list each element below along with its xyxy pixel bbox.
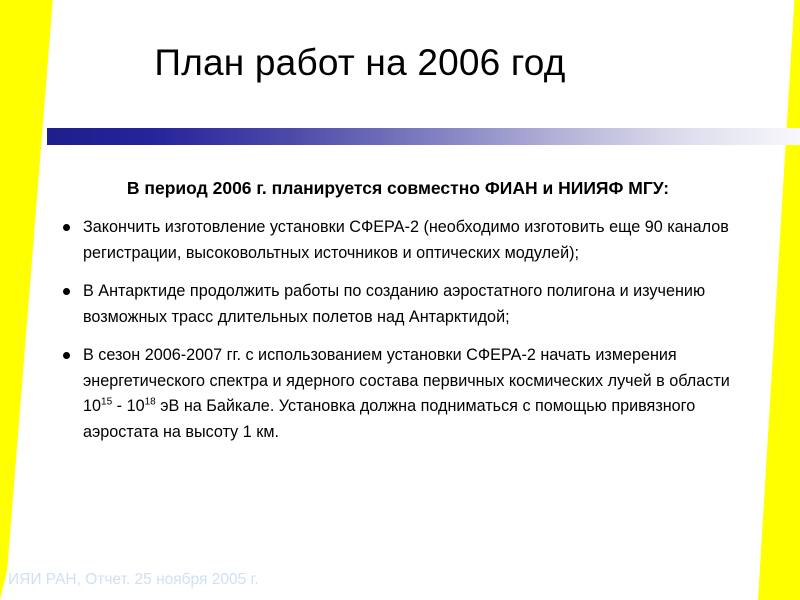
slide-body: В период 2006 г. планируется совместно Ф… <box>56 176 744 445</box>
yellow-left-band-icon <box>0 0 60 600</box>
bullet-item: Закончить изготовление установки СФЕРА-2… <box>56 215 744 266</box>
exponent: 18 <box>145 397 156 408</box>
slide: План работ на 2006 год В период 2006 г. … <box>0 0 800 600</box>
bullet-text: Закончить изготовление установки СФЕРА-2… <box>83 218 729 262</box>
bullet-list: Закончить изготовление установки СФЕРА-2… <box>56 215 744 445</box>
bullet-text: В сезон 2006-2007 гг. с использованием у… <box>83 346 730 441</box>
bullet-item: В Антарктиде продолжить работы по создан… <box>56 279 744 330</box>
blue-gradient-rule <box>47 128 800 145</box>
bullet-dot-icon <box>63 288 70 295</box>
exponent: 15 <box>101 397 112 408</box>
slide-title: План работ на 2006 год <box>60 40 660 86</box>
bullet-text: В Антарктиде продолжить работы по создан… <box>83 282 705 326</box>
bullet-dot-icon <box>63 224 70 231</box>
bullet-dot-icon <box>63 352 70 359</box>
bullet-item: В сезон 2006-2007 гг. с использованием у… <box>56 343 744 445</box>
slide-footer: ИЯИ РАН, Отчет. 25 ноября 2005 г. <box>8 570 259 590</box>
slide-subtitle: В период 2006 г. планируется совместно Ф… <box>78 176 718 201</box>
